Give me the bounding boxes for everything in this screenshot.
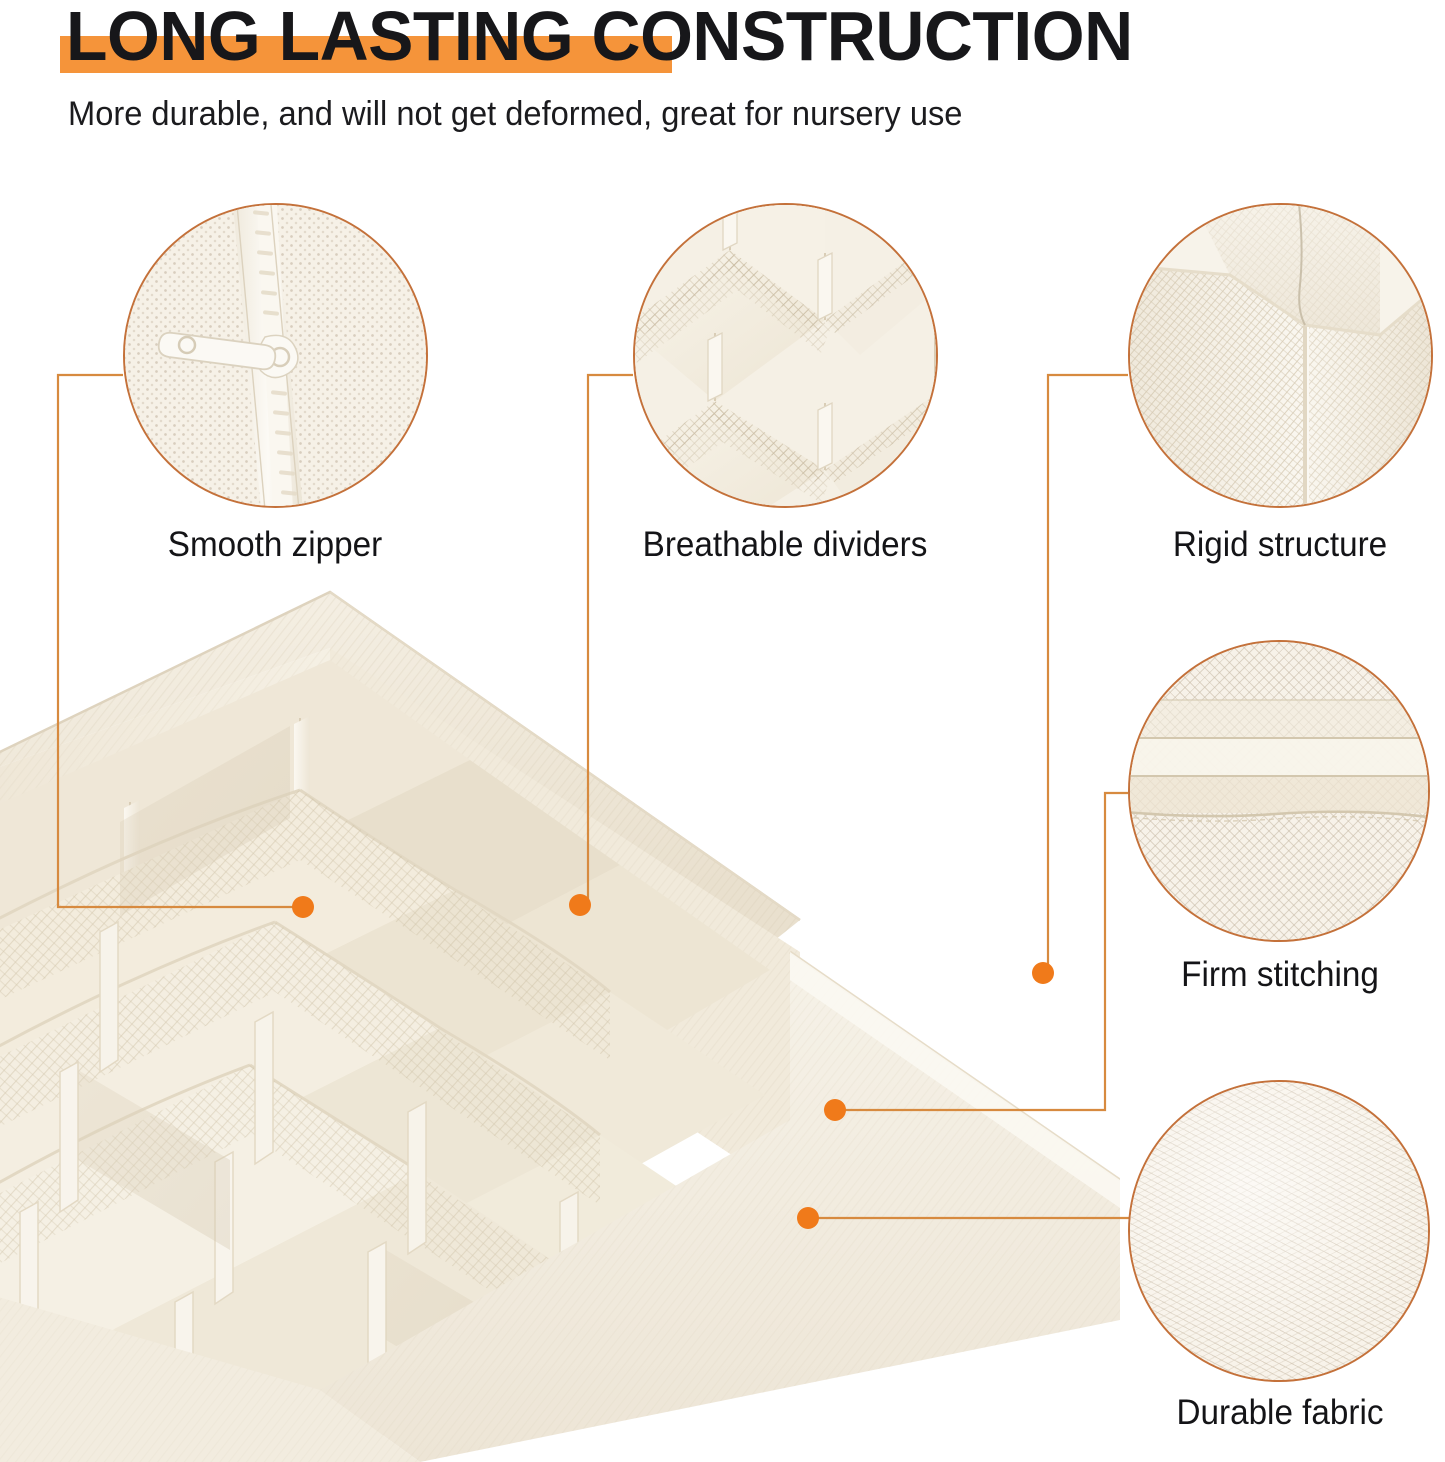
callout-label-rigid-structure: Rigid structure [1076, 525, 1445, 565]
callout-label-smooth-zipper: Smooth zipper [71, 525, 480, 565]
corner-icon [1128, 203, 1433, 508]
stitch-icon [1128, 640, 1430, 942]
zipper-icon [123, 203, 428, 508]
product-image [0, 560, 1120, 1462]
product-illustration [0, 560, 1120, 1462]
dividers-icon [633, 203, 938, 508]
fabric-icon [1128, 1080, 1430, 1382]
page-subtitle: More durable, and will not get deformed,… [68, 95, 962, 134]
callout-label-breathable-dividers: Breathable dividers [581, 525, 990, 565]
page-title: LONG LASTING CONSTRUCTION [66, 0, 1133, 76]
callout-label-firm-stitching: Firm stitching [1076, 955, 1445, 995]
callout-label-durable-fabric: Durable fabric [1076, 1393, 1445, 1433]
infographic-canvas: LONG LASTING CONSTRUCTION More durable, … [0, 0, 1445, 1462]
